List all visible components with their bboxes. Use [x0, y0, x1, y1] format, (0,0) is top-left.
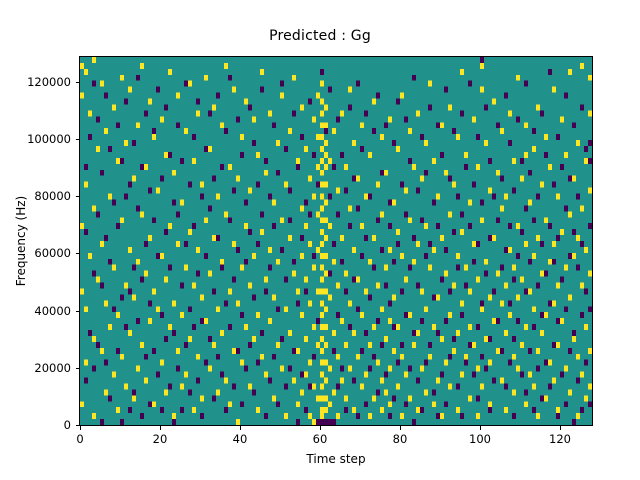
x-tick-mark [480, 426, 481, 430]
y-tick-label: 80000 [5, 189, 71, 203]
x-axis-label: Time step [79, 452, 593, 466]
x-tick-mark [560, 426, 561, 430]
chart-title: Predicted : Gg [0, 28, 640, 44]
x-tick-label: 120 [530, 432, 590, 446]
x-tick-mark [400, 426, 401, 430]
heatmap-plot-area[interactable] [79, 56, 593, 426]
x-tick-mark [160, 426, 161, 430]
x-tick-mark [320, 426, 321, 430]
x-tick-label: 40 [210, 432, 270, 446]
y-tick-label: 120000 [5, 75, 71, 89]
x-tick-label: 20 [130, 432, 190, 446]
x-tick-label: 0 [50, 432, 110, 446]
x-tick-label: 100 [450, 432, 510, 446]
figure-canvas: Predicted : Gg Frequency (Hz) 0200004000… [0, 0, 640, 480]
x-tick-label: 60 [290, 432, 350, 446]
y-axis-ticks: 020000400006000080000100000120000 [0, 0, 79, 480]
x-tick-mark [240, 426, 241, 430]
y-tick-label: 100000 [5, 132, 71, 146]
y-tick-label: 20000 [5, 361, 71, 375]
y-tick-label: 40000 [5, 304, 71, 318]
x-tick-mark [80, 426, 81, 430]
y-tick-label: 60000 [5, 246, 71, 260]
heatmap-image [80, 57, 592, 425]
x-tick-label: 80 [370, 432, 430, 446]
